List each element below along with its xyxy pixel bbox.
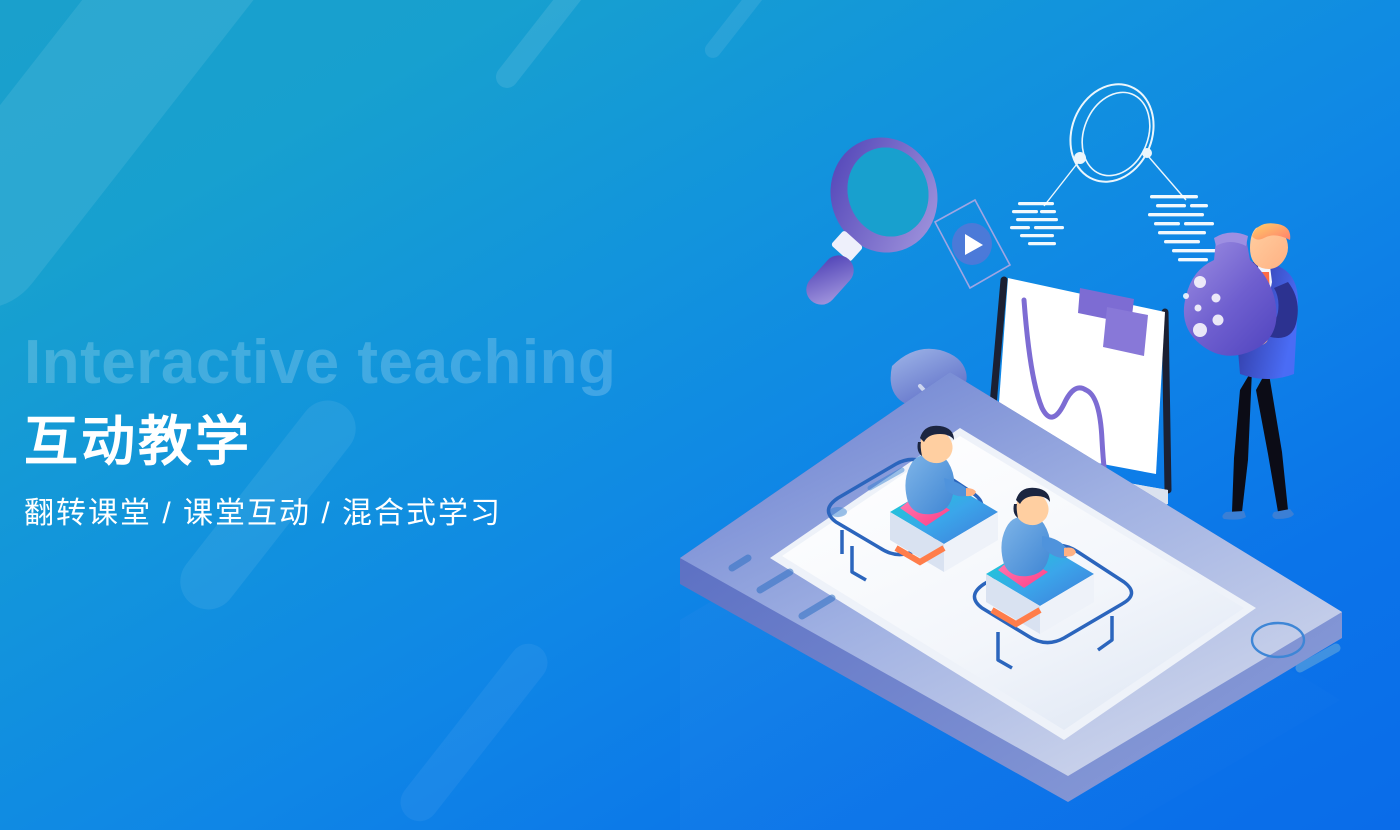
- page-title: 互动教学: [24, 413, 744, 472]
- ghost-title: Interactive teaching: [24, 330, 744, 395]
- magnifier-icon: [800, 123, 952, 310]
- video-play-icon: [935, 200, 1010, 288]
- atom-data-lines-right: [1148, 195, 1216, 261]
- decor-capsule-large: [0, 0, 311, 336]
- decor-capsule-small: [393, 636, 555, 829]
- hero-text-block: Interactive teaching 互动教学 翻转课堂 / 课堂互动 / …: [24, 330, 744, 532]
- teacher-with-flask: [1183, 223, 1298, 519]
- page-subtitle: 翻转课堂 / 课堂互动 / 混合式学习: [24, 496, 744, 532]
- atom-network-icon: [1044, 72, 1186, 206]
- atom-data-lines-left: [1010, 202, 1064, 245]
- hero-banner: Interactive teaching 互动教学 翻转课堂 / 课堂互动 / …: [0, 0, 1400, 830]
- decor-capsule-thin-2: [702, 0, 795, 61]
